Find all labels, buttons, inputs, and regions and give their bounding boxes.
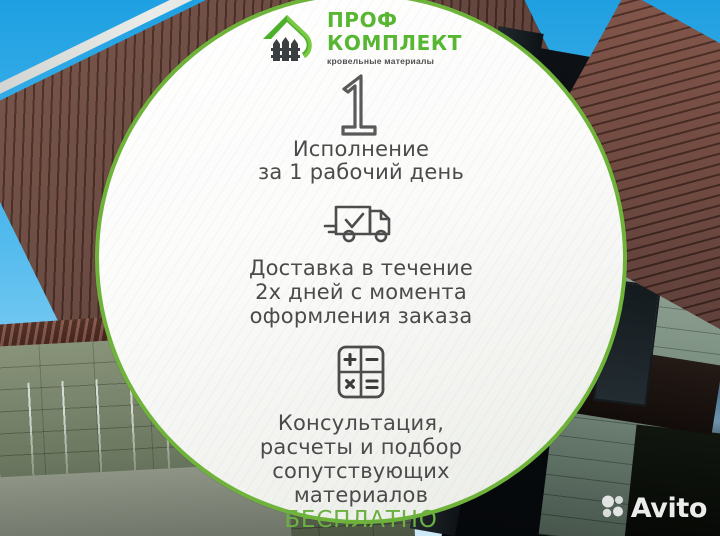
feature-1-line-2: за 1 рабочий день [258, 161, 464, 185]
circle-content: ПРОФ КОМПЛЕКТ кровельные материалы Испол… [99, 0, 623, 520]
house-roof-icon [260, 11, 318, 65]
feature-block-3: Консультация, расчеты и подбор сопутству… [260, 412, 462, 533]
feature-1-line-1: Исполнение [293, 138, 429, 162]
brand-line-2: КОМПЛЕКТ [327, 33, 462, 53]
number-one-outline-icon [330, 72, 392, 138]
feature-block-1: Исполнение за 1 рабочий день [258, 138, 464, 186]
avito-watermark: Avito [601, 494, 707, 523]
avito-dots-logo [601, 494, 625, 523]
feature-2-line-3: оформления заказа [250, 305, 473, 329]
brand-logo: ПРОФ КОМПЛЕКТ кровельные материалы [260, 10, 462, 66]
feature-2-line-2: 2х дней с момента [255, 281, 467, 305]
feature-3-line-4: материалов [294, 484, 428, 508]
free-highlight: БЕСПЛАТНО [284, 508, 437, 533]
feature-3-line-1: Консультация, [278, 412, 444, 436]
feature-block-2: Доставка в течение 2х дней с момента офо… [249, 257, 473, 329]
brand-wordmark: ПРОФ КОМПЛЕКТ кровельные материалы [327, 10, 462, 66]
feature-3-line-3: сопутствующих [272, 460, 450, 484]
delivery-truck-icon [323, 201, 399, 250]
brand-line-1: ПРОФ [327, 10, 398, 30]
feature-2-line-1: Доставка в течение [249, 257, 473, 281]
feature-3-line-2: расчеты и подбор [260, 436, 462, 460]
brand-tagline: кровельные материалы [327, 57, 434, 66]
calculator-icon [331, 344, 391, 405]
avito-wordmark: Avito [631, 495, 707, 522]
screenshot-root: ПРОФ КОМПЛЕКТ кровельные материалы Испол… [0, 0, 720, 536]
